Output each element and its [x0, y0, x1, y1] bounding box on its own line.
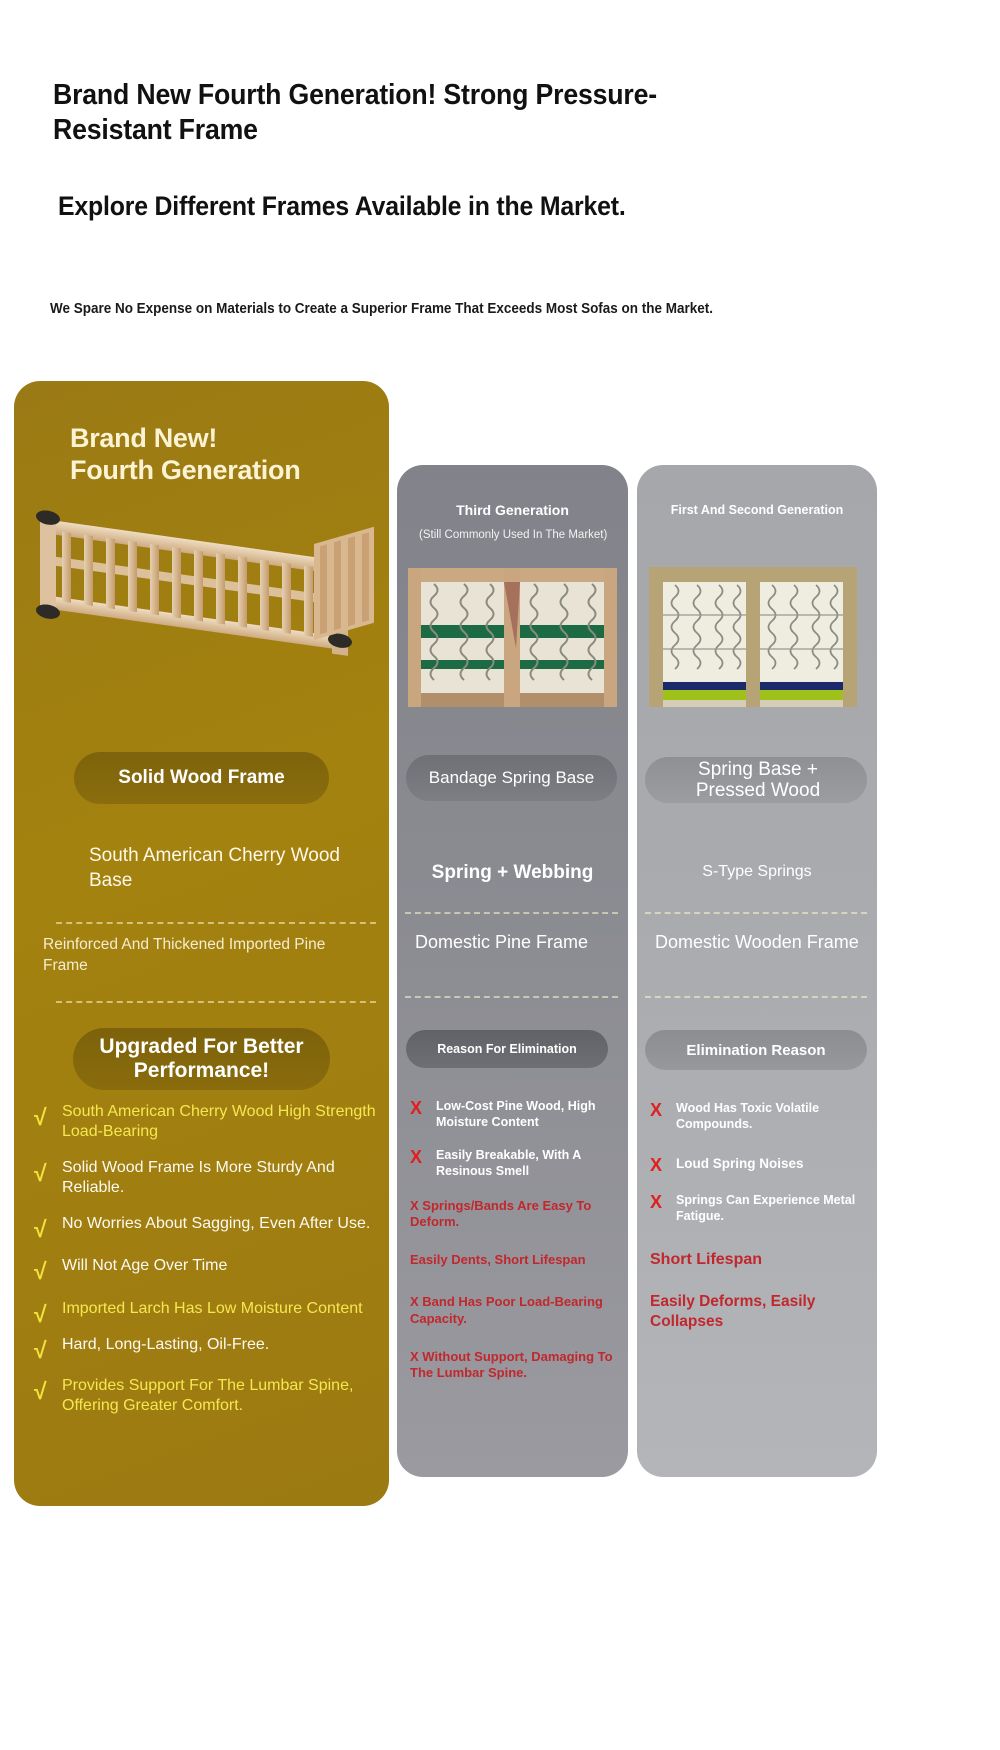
cross-icon: X	[650, 1193, 661, 1211]
right-spec-1: S-Type Springs	[637, 863, 877, 881]
gold-badge-primary: Solid Wood Frame	[74, 752, 329, 804]
list-item: X Without Support, Damaging To The Lumba…	[410, 1349, 620, 1382]
comparison-columns: Brand New! Fourth Generation	[0, 0, 1000, 1750]
list-item-label: Low-Cost Pine Wood, High Moisture Conten…	[436, 1099, 595, 1129]
gold-column-title: Brand New! Fourth Generation	[70, 423, 380, 486]
gold-divider-2	[56, 1001, 376, 1003]
check-icon: √	[34, 1106, 60, 1128]
gold-spec-1: South American Cherry Wood Base	[89, 844, 379, 893]
list-item: X Springs/Bands Are Easy To Deform.	[410, 1198, 620, 1231]
list-item-label: South American Cherry Wood High Strength…	[62, 1103, 376, 1140]
list-item-label: Band Has Poor Load-Bearing Capacity.	[410, 1294, 603, 1325]
list-item-label: Loud Spring Noises	[676, 1156, 804, 1171]
list-item-label: Springs/Bands Are Easy To Deform.	[410, 1198, 591, 1229]
check-icon: √	[34, 1162, 60, 1184]
middle-spec-1: Spring + Webbing	[397, 862, 628, 884]
list-item: X Loud Spring Noises	[650, 1156, 872, 1173]
list-item: √ Hard, Long-Lasting, Oil-Free.	[40, 1335, 389, 1355]
gold-badge-secondary: Upgraded For Better Performance!	[73, 1028, 330, 1090]
right-spec-2: Domestic Wooden Frame	[655, 932, 860, 954]
middle-column-note: (Still Commonly Used In The Market)	[419, 528, 609, 543]
middle-spec-2: Domestic Pine Frame	[415, 932, 605, 954]
list-item: X Springs Can Experience Metal Fatigue.	[650, 1193, 872, 1224]
list-item-label: Provides Support For The Lumbar Spine, O…	[62, 1377, 353, 1414]
list-item-label: Solid Wood Frame Is More Sturdy And Reli…	[62, 1159, 335, 1196]
cross-icon: X	[410, 1099, 421, 1117]
list-item-label: Will Not Age Over Time	[62, 1257, 227, 1274]
right-divider-1	[645, 912, 867, 914]
bandage-spring-base-photo	[408, 568, 617, 707]
list-item-label: Easily Deforms, Easily Collapses	[650, 1293, 815, 1329]
list-item: X Low-Cost Pine Wood, High Moisture Cont…	[410, 1099, 620, 1130]
list-item: √ Imported Larch Has Low Moisture Conten…	[40, 1299, 389, 1319]
list-item-label: Easily Breakable, With A Resinous Smell	[436, 1148, 581, 1178]
solid-wood-frame-photo	[22, 496, 382, 686]
spring-base-pressed-wood-photo	[649, 567, 857, 707]
check-icon: √	[34, 1218, 60, 1240]
list-item: √ Solid Wood Frame Is More Sturdy And Re…	[40, 1158, 389, 1199]
check-icon: √	[34, 1303, 60, 1325]
middle-badge-primary: Bandage Spring Base	[406, 755, 617, 801]
list-item-label: Hard, Long-Lasting, Oil-Free.	[62, 1336, 269, 1353]
cross-icon: X	[410, 1198, 419, 1213]
list-item: X Wood Has Toxic Volatile Compounds.	[650, 1101, 872, 1132]
check-icon: √	[34, 1380, 60, 1402]
list-item-label: Imported Larch Has Low Moisture Content	[62, 1300, 363, 1317]
cross-icon: X	[410, 1294, 419, 1309]
column-first-second-generation: First And Second Generation	[637, 465, 877, 1477]
column-fourth-generation: Brand New! Fourth Generation	[14, 381, 389, 1506]
middle-badge-secondary: Reason For Elimination	[406, 1030, 608, 1068]
check-icon: √	[34, 1260, 60, 1282]
list-item: Easily Dents, Short Lifespan	[410, 1252, 620, 1268]
list-item: √ Will Not Age Over Time	[40, 1256, 389, 1276]
cross-icon: X	[410, 1349, 419, 1364]
list-item-label: No Worries About Sagging, Even After Use…	[62, 1215, 370, 1232]
right-column-heading: First And Second Generation	[637, 503, 877, 517]
gold-benefit-list: √ South American Cherry Wood High Streng…	[40, 1102, 389, 1432]
list-item: Short Lifespan	[650, 1250, 872, 1270]
gold-divider-1	[56, 922, 376, 924]
list-item: Easily Deforms, Easily Collapses	[650, 1292, 872, 1331]
middle-divider-2	[405, 996, 618, 998]
cross-icon: X	[410, 1148, 421, 1166]
list-item: √ Provides Support For The Lumbar Spine,…	[40, 1376, 389, 1417]
gold-spec-2: Reinforced And Thickened Imported Pine F…	[43, 935, 363, 977]
list-item-label: Wood Has Toxic Volatile Compounds.	[676, 1101, 819, 1131]
list-item: X Easily Breakable, With A Resinous Smel…	[410, 1148, 620, 1179]
check-icon: √	[34, 1339, 60, 1361]
right-drawback-list: X Wood Has Toxic Volatile Compounds. X L…	[650, 1101, 872, 1343]
right-divider-2	[645, 996, 867, 998]
product-infographic-page: Brand New Fourth Generation! Strong Pres…	[0, 0, 1000, 1750]
right-badge-primary: Spring Base + Pressed Wood	[645, 757, 867, 803]
list-item-label: Without Support, Damaging To The Lumbar …	[410, 1349, 613, 1380]
list-item: √ No Worries About Sagging, Even After U…	[40, 1214, 389, 1234]
column-third-generation: Third Generation (Still Commonly Used In…	[397, 465, 628, 1477]
cross-icon: X	[650, 1156, 661, 1174]
list-item-label: Short Lifespan	[650, 1251, 762, 1268]
middle-divider-1	[405, 912, 618, 914]
list-item: X Band Has Poor Load-Bearing Capacity.	[410, 1294, 620, 1327]
list-item-label: Easily Dents, Short Lifespan	[410, 1252, 586, 1267]
cross-icon: X	[650, 1101, 661, 1119]
right-badge-secondary: Elimination Reason	[645, 1030, 867, 1070]
list-item-label: Springs Can Experience Metal Fatigue.	[676, 1193, 855, 1223]
list-item: √ South American Cherry Wood High Streng…	[40, 1102, 389, 1143]
middle-column-heading: Third Generation	[397, 502, 628, 518]
middle-drawback-list: X Low-Cost Pine Wood, High Moisture Cont…	[410, 1099, 620, 1393]
